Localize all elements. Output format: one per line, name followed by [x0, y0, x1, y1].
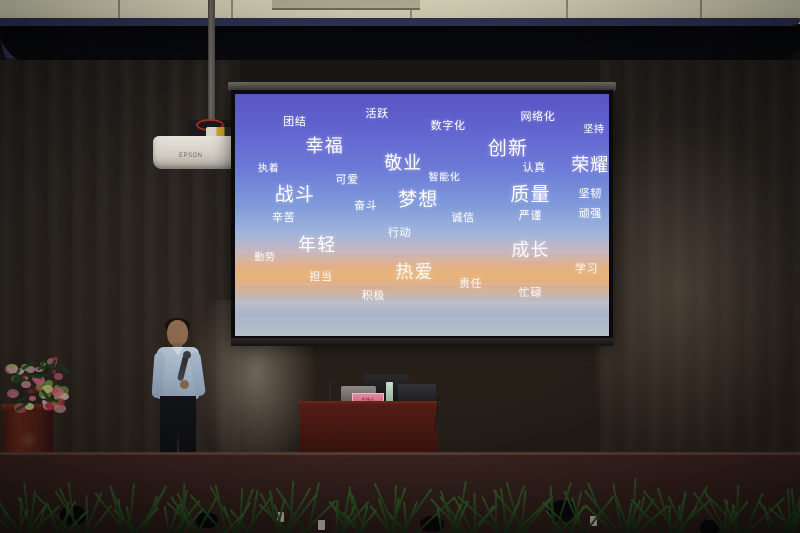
word-cloud-term: 荣耀: [571, 151, 609, 177]
flower-petal: [28, 389, 35, 394]
word-cloud-term: 数字化: [431, 117, 466, 133]
flower-petal: [7, 389, 19, 398]
word-cloud-term: 团结: [283, 113, 306, 129]
audience-water-cup: [277, 512, 284, 522]
flower-petal: [21, 381, 30, 388]
microphone-head: [183, 351, 191, 359]
projection-screen-frame: 团结活跃数字化网络化坚持幸福创新敬业执着认真荣耀可爱智能化战斗梦想质量坚韧奋斗辛…: [231, 90, 613, 340]
word-cloud-term: 奋斗: [354, 197, 377, 213]
projector-mount-pole: [208, 0, 215, 126]
word-cloud-term: 学习: [575, 260, 598, 276]
flower-leaf: [35, 374, 49, 378]
word-cloud-term: 可爱: [336, 171, 359, 187]
word-cloud-term: 成长: [511, 236, 549, 262]
flower-arrangement: [0, 352, 70, 414]
flower-petal: [54, 373, 63, 380]
audience-head: [548, 500, 578, 522]
word-cloud-term: 活跃: [365, 105, 388, 121]
word-cloud-term: 顽强: [579, 205, 602, 221]
flower-petal: [52, 388, 64, 397]
word-cloud-term: 质量: [510, 180, 550, 207]
audience-head: [700, 520, 720, 533]
word-cloud-term: 敬业: [384, 149, 422, 175]
word-cloud-term: 积极: [362, 287, 385, 303]
audience-head: [60, 505, 86, 525]
projector-brand-label: EPSON: [179, 153, 203, 159]
word-cloud-term: 梦想: [398, 185, 438, 212]
word-cloud-term: 辛苦: [272, 209, 295, 225]
audience-water-cup: [590, 516, 597, 526]
word-cloud-term: 坚韧: [579, 185, 602, 201]
presentation-photo-scene: EPSON 团结活跃数字化网络化坚持幸福创新敬业执着认真荣耀可爱智能化战斗梦想质…: [0, 0, 800, 533]
word-cloud-term: 诚信: [451, 209, 474, 225]
word-cloud-term: 创新: [488, 134, 528, 161]
word-cloud-term: 幸福: [306, 132, 344, 158]
stage-floor: [0, 452, 800, 533]
word-cloud-term: 行动: [388, 224, 411, 240]
word-cloud-term: 认真: [523, 159, 546, 175]
word-cloud-term: 担当: [309, 268, 332, 284]
word-cloud-term: 网络化: [520, 108, 555, 124]
word-cloud-term: 热爱: [395, 258, 433, 284]
stage-edge: [0, 452, 800, 455]
word-cloud-term: 执着: [258, 159, 279, 174]
word-cloud-term: 忙碌: [519, 284, 542, 300]
word-cloud-term: 智能化: [429, 169, 461, 184]
flower-petal: [9, 364, 13, 367]
audience-water-cup: [318, 520, 325, 530]
word-cloud-term: 年轻: [298, 231, 336, 257]
flower-petal: [29, 396, 36, 401]
lectern-emblem: [18, 430, 38, 450]
ceiling-vent: [272, 0, 420, 10]
screen-bottom-bar: [231, 338, 613, 346]
word-cloud-term: 勤劳: [254, 249, 275, 264]
word-cloud-term: 责任: [459, 275, 482, 291]
projection-screen-surface: 团结活跃数字化网络化坚持幸福创新敬业执着认真荣耀可爱智能化战斗梦想质量坚韧奋斗辛…: [235, 94, 609, 336]
word-cloud-term: 坚持: [583, 120, 604, 135]
audience-head: [196, 512, 218, 528]
word-cloud-term: 战斗: [275, 180, 315, 207]
presenter-hand: [180, 380, 189, 389]
word-cloud-term: 严谨: [519, 207, 542, 223]
audience-head: [420, 516, 444, 532]
curtain-highlight-right: [596, 120, 800, 460]
